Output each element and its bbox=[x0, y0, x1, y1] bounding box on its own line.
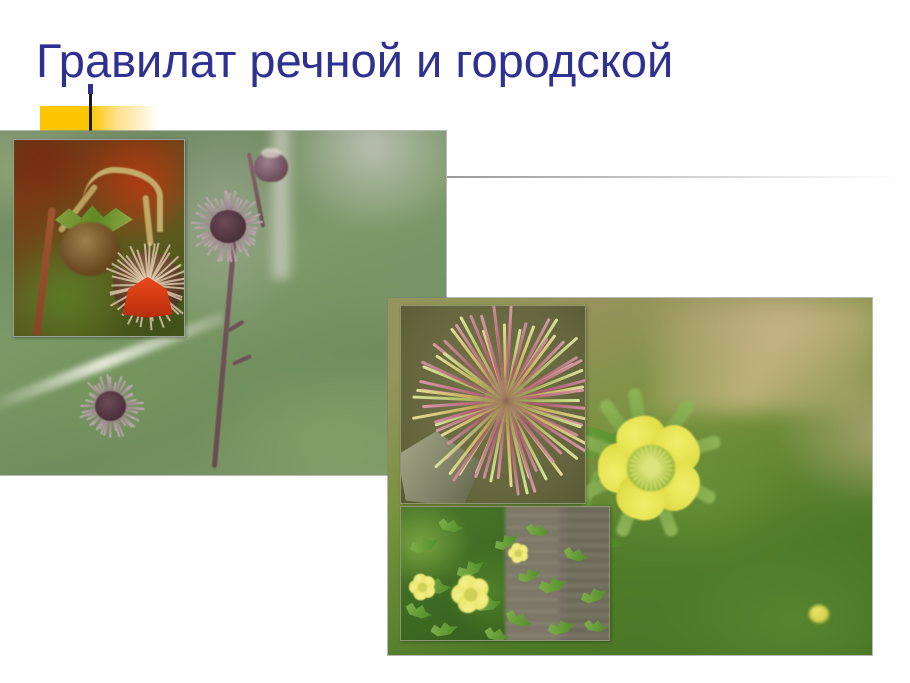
inset-fence-yellow-flower bbox=[508, 543, 529, 564]
title-accent-tick-blue bbox=[88, 84, 93, 94]
photo-left-seedhead-lower bbox=[83, 379, 139, 433]
inset-left-nodding-flower bbox=[113, 252, 183, 318]
flower-center bbox=[627, 445, 675, 491]
title-accent-fade bbox=[90, 106, 160, 132]
title-underline-rule bbox=[447, 176, 902, 178]
wood-avens-habit-photo bbox=[400, 506, 610, 641]
seedhead-core bbox=[95, 391, 126, 421]
title-accent-group bbox=[40, 106, 160, 132]
photo-right-dry-grass bbox=[654, 305, 872, 412]
inset-fence-yellow-flower bbox=[451, 575, 490, 614]
wood-avens-seedhead-closeup bbox=[400, 305, 586, 504]
seedhead-core bbox=[210, 210, 246, 244]
water-avens-flower-closeup bbox=[13, 139, 185, 337]
inset-seedhead-burr bbox=[423, 322, 586, 480]
slide-canvas: Гравилат речной и городской bbox=[0, 0, 910, 683]
photo-left-flower-bud bbox=[254, 152, 288, 182]
page-title: Гравилат речной и городской bbox=[36, 36, 866, 85]
inset-left-closed-bud bbox=[60, 222, 120, 276]
inset-fence-plank-right bbox=[559, 506, 610, 641]
inset-fence-yellow-flower bbox=[409, 573, 436, 600]
title-accent-tick bbox=[89, 90, 92, 134]
title-accent-block bbox=[40, 106, 90, 132]
photo-right-distant-flower bbox=[809, 605, 829, 623]
